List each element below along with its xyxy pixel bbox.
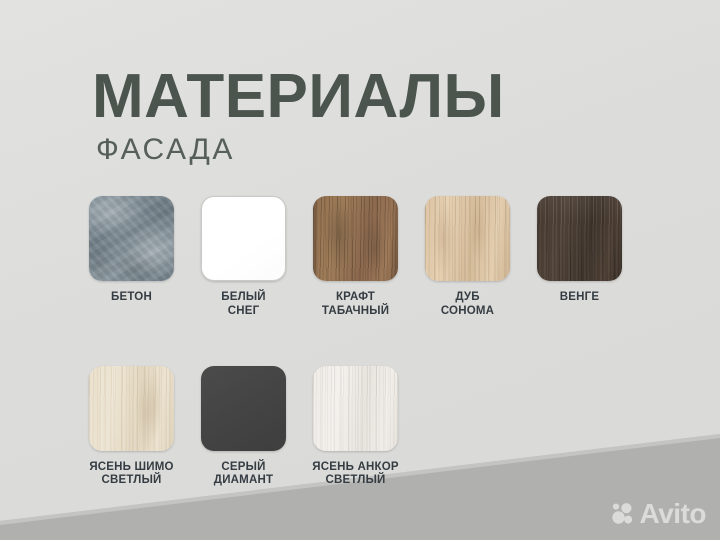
- ash-ankor-light-swatch[interactable]: [313, 366, 398, 451]
- material-label-oak-sonoma: ДУБ СОНОМА: [416, 291, 520, 319]
- material-item-wenge[interactable]: ВЕНГЕ: [537, 196, 622, 319]
- concrete-swatch[interactable]: [89, 196, 174, 281]
- wenge-texture: [537, 196, 622, 281]
- material-item-ash-ankor-light[interactable]: ЯСЕНЬ АНКОР СВЕТЛЫЙ: [313, 366, 398, 489]
- material-item-craft-tobacco[interactable]: КРАФТ ТАБАЧНЫЙ: [313, 196, 398, 319]
- avito-wordmark: Avito: [640, 500, 706, 528]
- material-label-white-snow: БЕЛЫЙ СНЕГ: [192, 291, 296, 319]
- material-label-ash-shimo-light: ЯСЕНЬ ШИМО СВЕТЛЫЙ: [80, 461, 184, 489]
- materials-row-1: БЕТОН БЕЛЫЙ СНЕГ КРАФТ ТАБАЧНЫЙ ДУБ СОНО…: [89, 196, 669, 319]
- material-item-gray-diamond[interactable]: СЕРЫЙ ДИАМАНТ: [201, 366, 286, 489]
- concrete-texture: [89, 196, 174, 281]
- ash-ankor-light-texture: [313, 366, 398, 451]
- material-item-oak-sonoma[interactable]: ДУБ СОНОМА: [425, 196, 510, 319]
- poster-heading: МАТЕРИАЛЫ ФАСАДА: [92, 68, 652, 165]
- ash-shimo-light-swatch[interactable]: [89, 366, 174, 451]
- craft-tobacco-texture: [313, 196, 398, 281]
- poster-canvas: МАТЕРИАЛЫ ФАСАДА БЕТОН БЕЛЫЙ СНЕГ КРАФТ …: [0, 0, 720, 540]
- oak-sonoma-texture: [425, 196, 510, 281]
- material-label-gray-diamond: СЕРЫЙ ДИАМАНТ: [192, 461, 296, 489]
- material-label-beton: БЕТОН: [80, 291, 184, 305]
- page-title: МАТЕРИАЛЫ: [92, 68, 652, 125]
- oak-sonoma-swatch[interactable]: [425, 196, 510, 281]
- material-item-ash-shimo-light[interactable]: ЯСЕНЬ ШИМО СВЕТЛЫЙ: [89, 366, 174, 489]
- avito-watermark: Avito: [610, 500, 706, 528]
- material-item-white-snow[interactable]: БЕЛЫЙ СНЕГ: [201, 196, 286, 319]
- avito-logo-icon: [610, 501, 636, 527]
- gray-diamond-swatch[interactable]: [201, 366, 286, 451]
- material-label-wenge: ВЕНГЕ: [528, 291, 632, 305]
- white-swatch[interactable]: [201, 196, 286, 281]
- craft-tobacco-swatch[interactable]: [313, 196, 398, 281]
- material-label-craft-tobacco: КРАФТ ТАБАЧНЫЙ: [304, 291, 408, 319]
- page-subtitle: ФАСАДА: [96, 135, 652, 165]
- wenge-swatch[interactable]: [537, 196, 622, 281]
- ash-shimo-light-texture: [89, 366, 174, 451]
- materials-grid: БЕТОН БЕЛЫЙ СНЕГ КРАФТ ТАБАЧНЫЙ ДУБ СОНО…: [89, 196, 669, 488]
- material-label-ash-ankor-light: ЯСЕНЬ АНКОР СВЕТЛЫЙ: [304, 461, 408, 489]
- material-item-beton[interactable]: БЕТОН: [89, 196, 174, 319]
- materials-row-2: ЯСЕНЬ ШИМО СВЕТЛЫЙ СЕРЫЙ ДИАМАНТ ЯСЕНЬ А…: [89, 366, 669, 489]
